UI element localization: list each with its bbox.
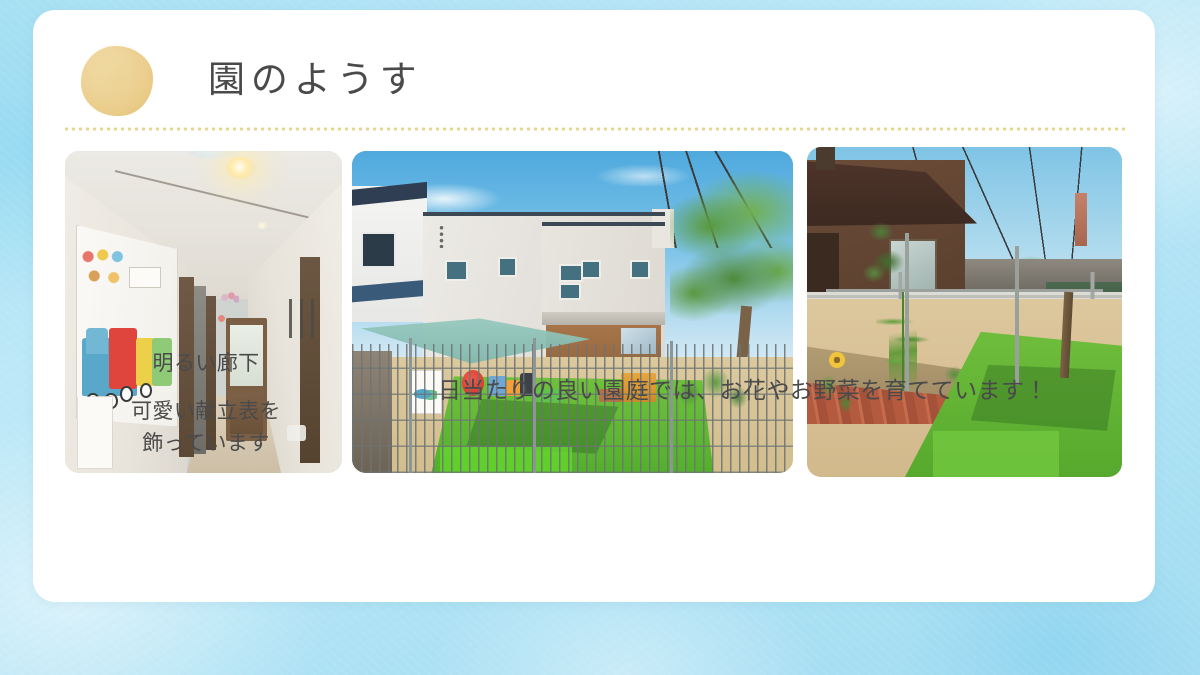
building-window — [445, 260, 469, 280]
caption-left-line2: 可愛い献立表を — [61, 396, 351, 429]
sunflower — [829, 352, 845, 369]
page-title: 園のようす — [208, 60, 423, 101]
support-pole — [1015, 246, 1019, 385]
fence-rail — [826, 289, 1103, 292]
downlight — [256, 222, 268, 229]
playground-scene — [352, 151, 793, 473]
dotted-divider — [63, 127, 1126, 131]
entrance-canopy — [542, 312, 665, 325]
caption-right: 日当たりの良い園庭では、お花やお野菜を育てています！ — [363, 373, 1123, 409]
page-header: 園のようす — [33, 10, 1155, 122]
building-window — [630, 260, 650, 278]
caption-left: 明るい廊下 可愛い献立表を 飾っています — [61, 348, 351, 461]
caption-left-line1: 明るい廊下 — [61, 348, 351, 381]
photo-garden[interactable] — [807, 147, 1122, 477]
wall-frames — [289, 299, 314, 338]
building-window — [559, 283, 581, 300]
hanging-decoration — [220, 289, 239, 305]
roofline — [542, 222, 665, 226]
building-window — [498, 257, 518, 277]
building-window — [559, 264, 583, 282]
roofline — [423, 212, 666, 216]
wall-decoration — [216, 312, 227, 325]
tree — [670, 170, 793, 357]
wall-vents — [438, 225, 445, 248]
chimney — [816, 147, 835, 170]
lawn-highlight — [933, 431, 1059, 477]
caption-left-line3: 飾っています — [61, 428, 351, 461]
watercolor-blob-icon — [81, 46, 153, 116]
neighbor-window — [361, 232, 396, 268]
garden-scene — [807, 147, 1122, 477]
support-pole — [905, 233, 909, 391]
building-window — [581, 260, 601, 278]
board-label — [129, 267, 161, 288]
content-card: 園のようす — [33, 10, 1155, 602]
photo-playground[interactable] — [352, 151, 793, 473]
caption-right-line1: 日当たりの良い園庭では、お花やお野菜を育てています！ — [363, 373, 1123, 409]
